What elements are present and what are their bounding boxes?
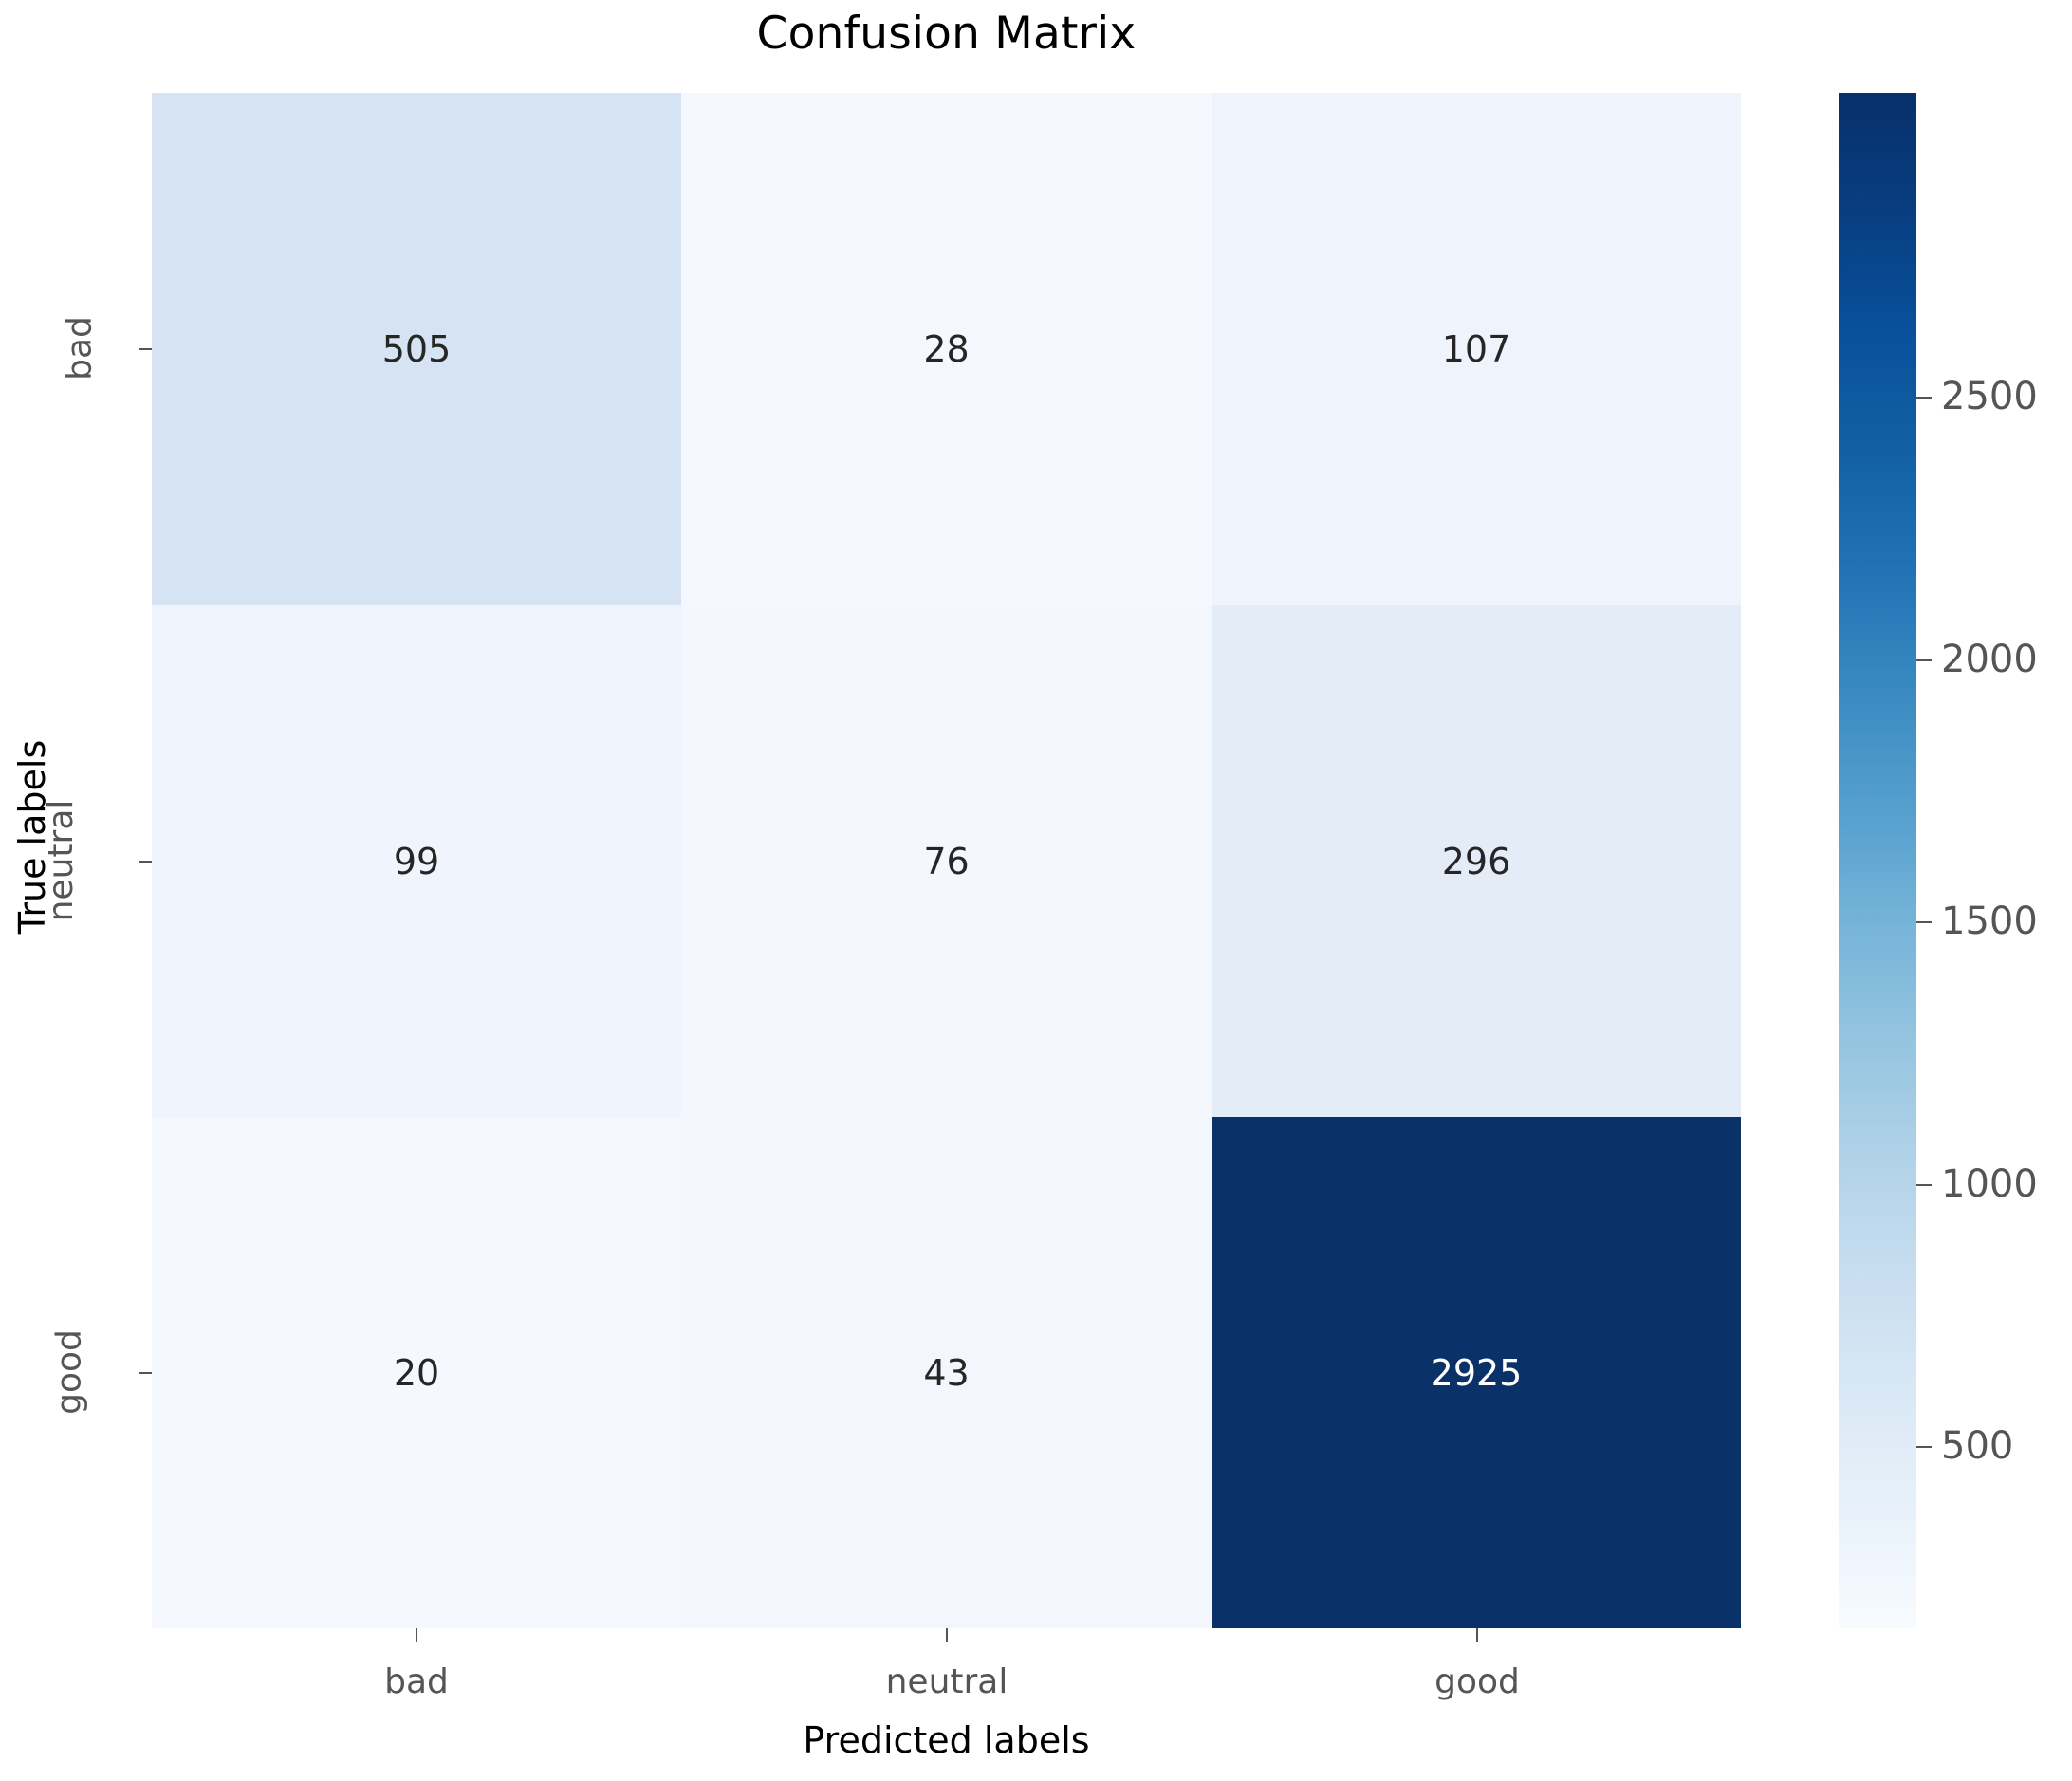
heatmap-cell-value: 99 [394,844,439,880]
y-axis-title: True labels [11,647,53,1027]
heatmap-cell-value: 2925 [1431,1355,1523,1391]
heatmap-cell-value: 76 [923,844,969,880]
heatmap-cell-value: 296 [1442,844,1511,880]
y-tick-label-good: good [0,1353,112,1392]
heatmap-cell-value: 28 [923,331,969,367]
colorbar-tick-label-2000: 2000 [1941,638,2038,681]
heatmap-cell-neutral-neutral: 76 [681,605,1212,1117]
y-tick-mark-neutral [139,861,152,863]
colorbar-tick-label-500: 500 [1941,1424,2013,1468]
heatmap-cell-value: 43 [923,1355,969,1391]
colorbar-tick-label-1000: 1000 [1941,1162,2038,1206]
heatmap-cell-neutral-good: 296 [1212,605,1741,1117]
y-tick-label-good-text: good [50,1329,89,1415]
x-tick-label-neutral: neutral [757,1662,1137,1701]
heatmap-cell-good-neutral: 43 [681,1117,1212,1628]
heatmap-cell-value: 107 [1442,331,1511,367]
heatmap-cell-value: 20 [394,1355,439,1391]
heatmap-cell-good-bad: 20 [152,1117,681,1628]
x-tick-mark-bad [416,1628,417,1642]
x-tick-mark-good [1476,1628,1478,1642]
y-tick-mark-good [139,1372,152,1374]
colorbar-tick-mark-2000 [1916,659,1932,661]
colorbar-tick-label-1500: 1500 [1941,900,2038,943]
colorbar-gradient [1839,93,1916,1628]
colorbar-tick-mark-2500 [1916,397,1932,399]
heatmap-cell-value: 505 [382,331,452,367]
colorbar-tick-label-2500: 2500 [1941,375,2038,418]
heatmap-cell-good-good: 2925 [1212,1117,1741,1628]
colorbar-tick-mark-1500 [1916,921,1932,923]
colorbar-tick-mark-500 [1916,1446,1932,1448]
y-tick-label-bad-text: bad [61,316,100,380]
heatmap-cell-bad-neutral: 28 [681,93,1212,605]
heatmap-cell-bad-bad: 505 [152,93,681,605]
y-tick-mark-bad [139,348,152,350]
chart-title: Confusion Matrix [152,8,1741,60]
heatmap-cell-bad-good: 107 [1212,93,1741,605]
y-tick-label-bad: bad [0,329,112,368]
colorbar-tick-mark-1000 [1916,1184,1932,1186]
x-tick-label-good: good [1287,1662,1667,1701]
x-axis-title: Predicted labels [152,1719,1741,1761]
colorbar: 2500 2000 1500 1000 500 [1839,93,1916,1628]
x-tick-label-bad: bad [227,1662,606,1701]
heatmap-cell-neutral-bad: 99 [152,605,681,1117]
x-tick-mark-neutral [946,1628,948,1642]
heatmap-plot-area: 505 28 107 99 76 296 20 43 2925 [152,93,1741,1628]
